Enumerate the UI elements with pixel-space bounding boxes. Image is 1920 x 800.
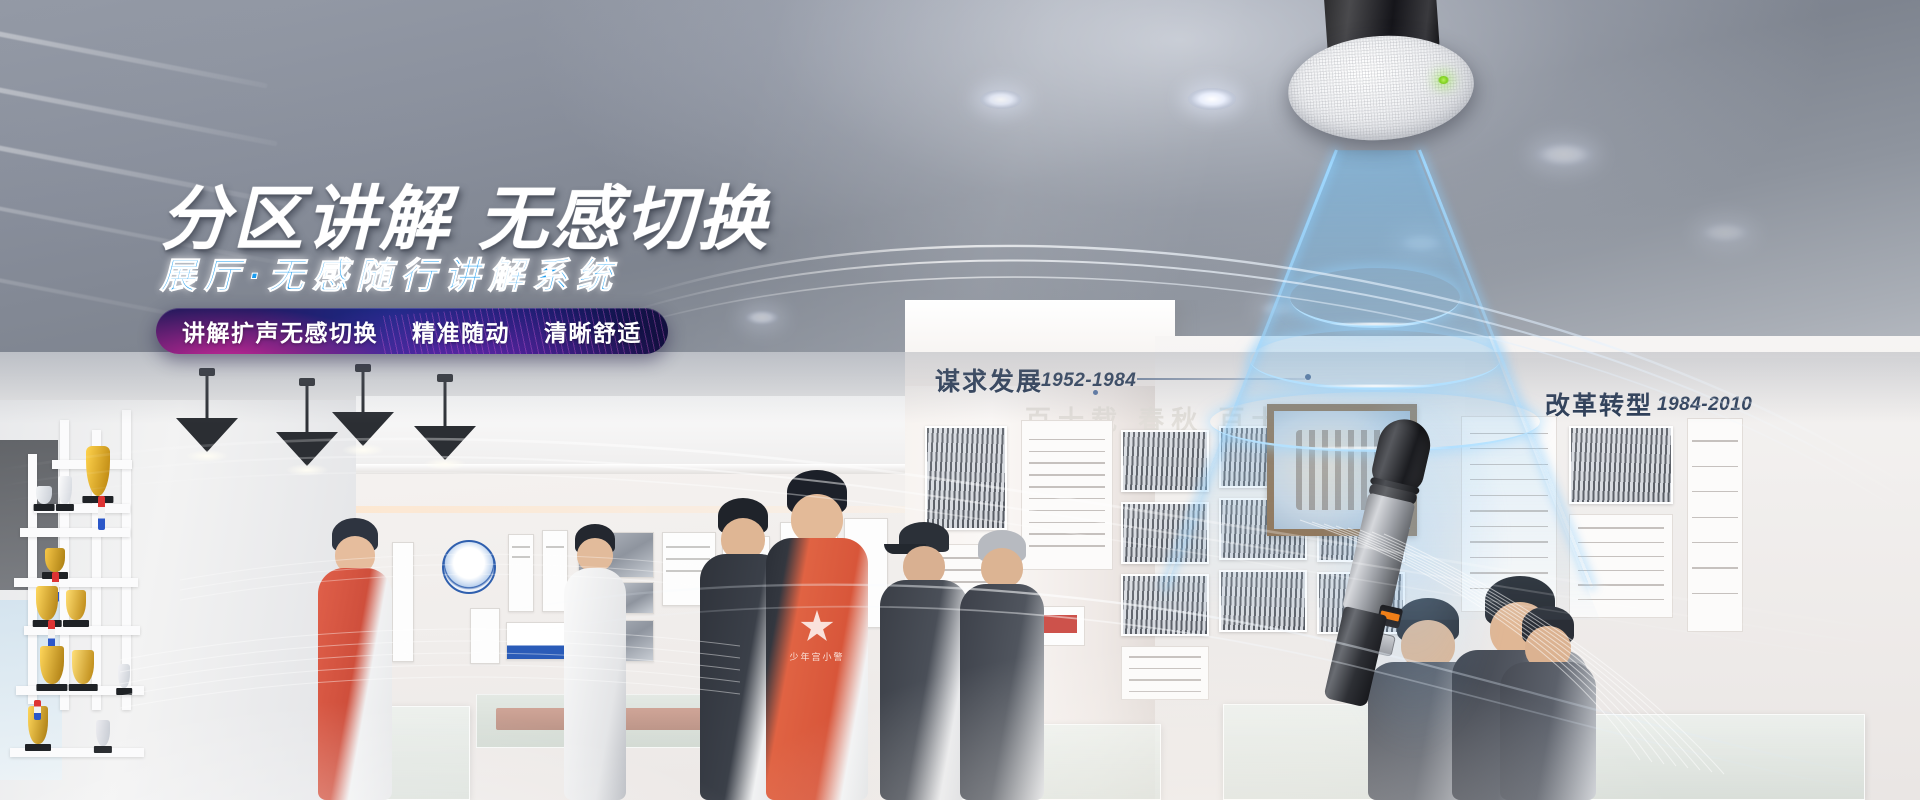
feature-item-3: 清晰舒适 xyxy=(544,314,642,348)
page-subtitle: 展厅·无感随行讲解系统 xyxy=(160,258,620,294)
headline-part-1: 分区讲解 xyxy=(160,180,452,258)
feature-pill: 讲解扩声无感切换 精准随动 清晰舒适 xyxy=(156,308,668,354)
page-title: 分区讲解无感切换 xyxy=(160,184,770,254)
feature-item-1: 讲解扩声无感切换 xyxy=(182,314,378,348)
headline-part-2: 无感切换 xyxy=(478,180,770,258)
feature-item-2: 精准随动 xyxy=(412,314,510,348)
copy-block: 分区讲解无感切换 展厅·无感随行讲解系统 讲解扩声无感切换 精准随动 清晰舒适 xyxy=(0,0,1920,800)
hero-banner: 百十载 春秋 百十载 谋求发展 1952-1984 改革转型 1984-2010 xyxy=(0,0,1920,800)
